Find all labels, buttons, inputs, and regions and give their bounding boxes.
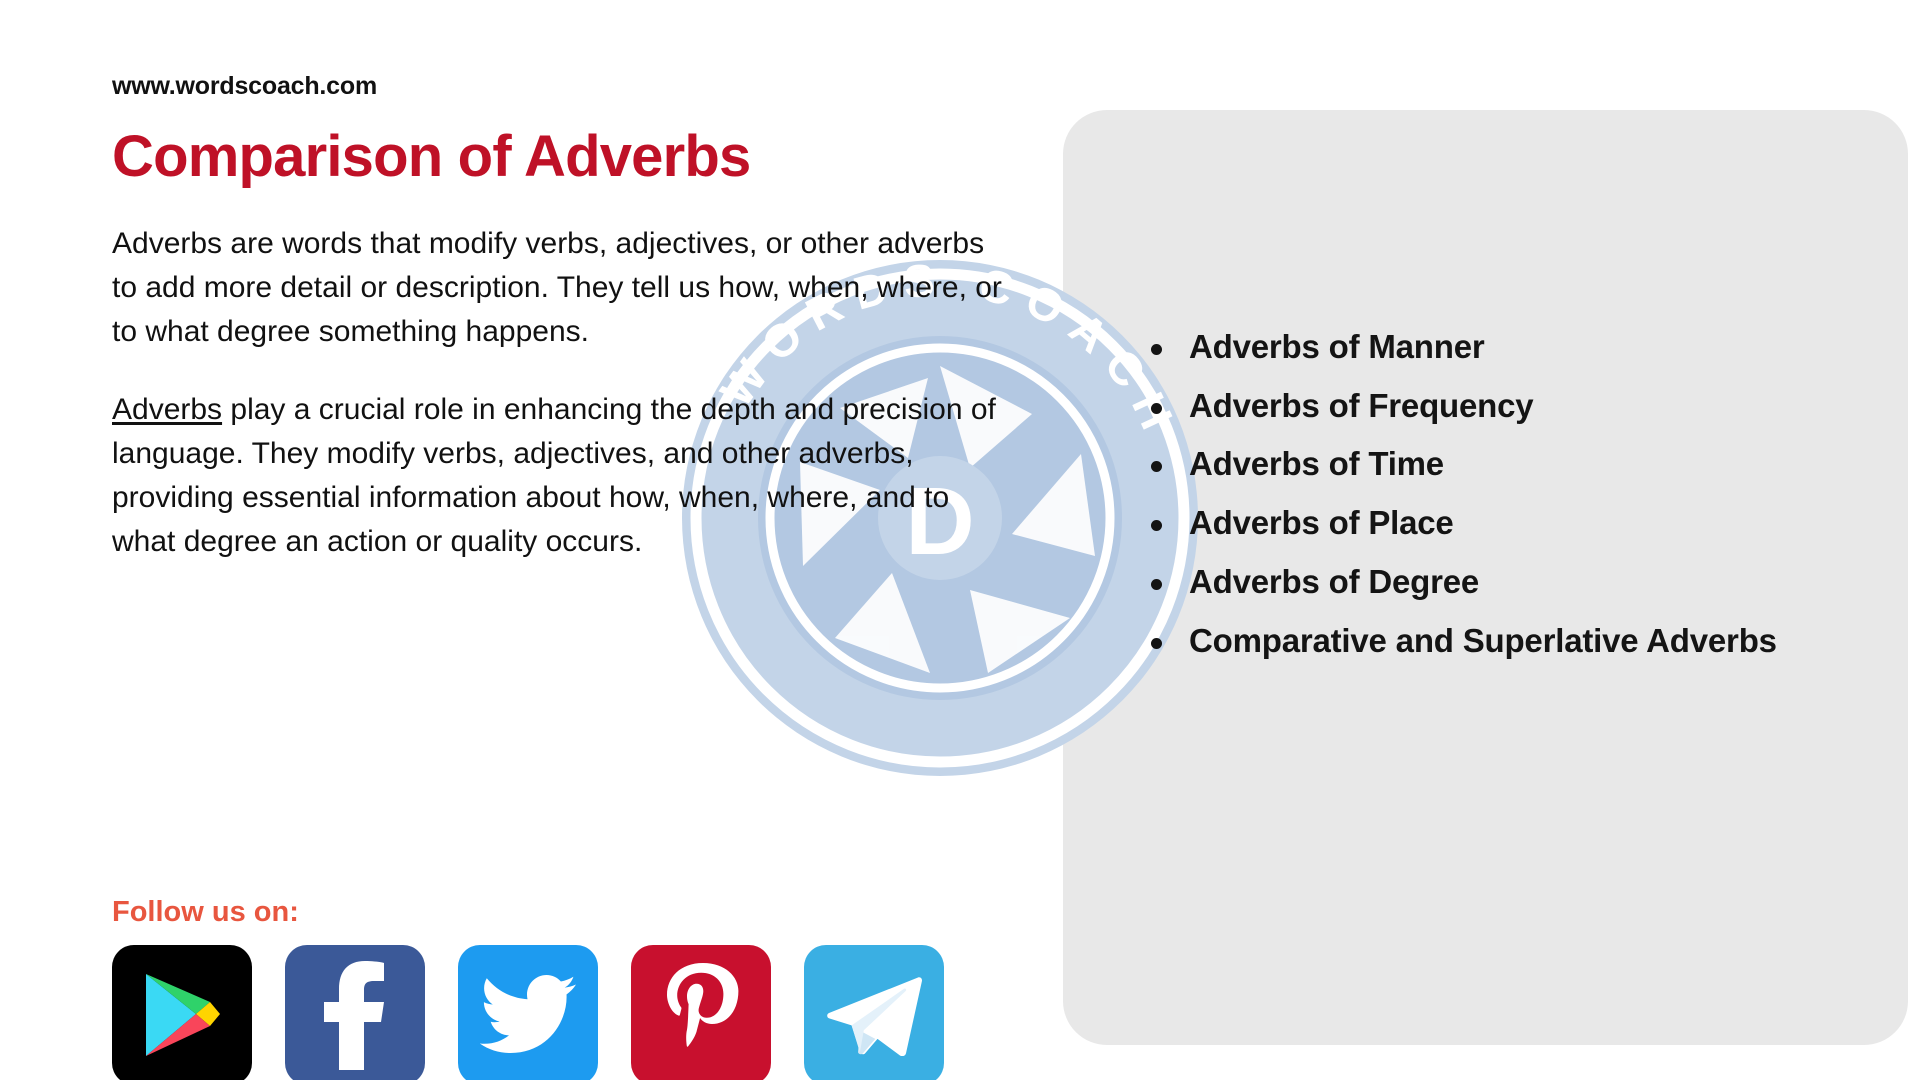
social-icon-row (112, 945, 944, 1080)
left-content-column: www.wordscoach.com Comparison of Adverbs… (112, 72, 1012, 599)
list-item: Comparative and Superlative Adverbs (1145, 612, 1845, 671)
list-item-label: Adverbs of Manner (1189, 328, 1485, 365)
facebook-icon (320, 960, 390, 1070)
social-link-telegram[interactable] (804, 945, 944, 1080)
slide-canvas: D WORDS COACH www.wordscoach.com Compari… (0, 0, 1920, 1080)
bullet-dot-icon (1151, 638, 1162, 649)
bullet-dot-icon (1151, 461, 1162, 472)
intro-paragraph: Adverbs are words that modify verbs, adj… (112, 222, 1002, 354)
pinterest-icon (661, 963, 741, 1067)
twitter-icon (480, 975, 576, 1055)
google-play-icon (140, 970, 224, 1060)
page-title: Comparison of Adverbs (112, 127, 1012, 188)
list-item-label: Adverbs of Place (1189, 504, 1454, 541)
adverbs-link[interactable]: Adverbs (112, 393, 222, 426)
bullet-dot-icon (1151, 403, 1162, 414)
bullet-dot-icon (1151, 579, 1162, 590)
list-item-label: Adverbs of Degree (1189, 563, 1479, 600)
list-item: Adverbs of Place (1145, 494, 1845, 553)
follow-us-section: Follow us on: (112, 896, 944, 1080)
site-url: www.wordscoach.com (112, 72, 1012, 101)
detail-paragraph-rest: play a crucial role in enhancing the dep… (112, 393, 996, 558)
social-link-google-play[interactable] (112, 945, 252, 1080)
social-link-twitter[interactable] (458, 945, 598, 1080)
list-item-label: Adverbs of Frequency (1189, 387, 1533, 424)
bullet-dot-icon (1151, 344, 1162, 355)
list-item: Adverbs of Time (1145, 435, 1845, 494)
list-item-label: Comparative and Superlative Adverbs (1189, 622, 1777, 659)
detail-paragraph: Adverbs play a crucial role in enhancing… (112, 388, 1002, 564)
follow-us-label: Follow us on: (112, 896, 944, 929)
list-item-label: Adverbs of Time (1189, 445, 1444, 482)
list-item: Adverbs of Degree (1145, 553, 1845, 612)
list-item: Adverbs of Frequency (1145, 377, 1845, 436)
adverb-types-list: Adverbs of Manner Adverbs of Frequency A… (1145, 318, 1845, 670)
social-link-pinterest[interactable] (631, 945, 771, 1080)
bullet-dot-icon (1151, 520, 1162, 531)
telegram-icon (826, 974, 922, 1056)
list-item: Adverbs of Manner (1145, 318, 1845, 377)
social-link-facebook[interactable] (285, 945, 425, 1080)
